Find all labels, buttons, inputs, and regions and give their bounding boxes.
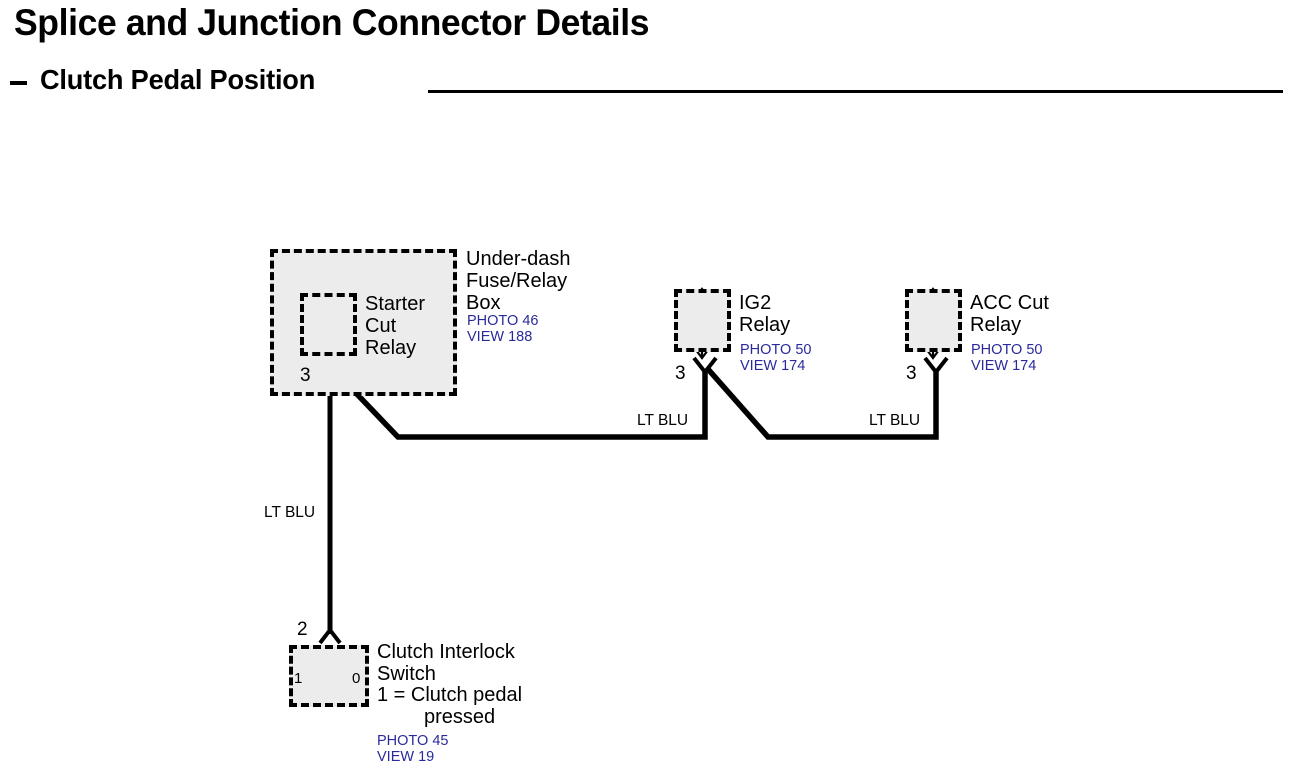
acc-cut-relay-box [905,289,962,352]
acc-cut-relay-photo-reference: PHOTO 50 [971,342,1042,358]
starter-cut-relay-label: Starter Cut Relay [365,293,425,359]
acc-cut-relay-view-reference: VIEW 174 [971,358,1036,374]
clutch-switch-photo-reference: PHOTO 45 [377,733,448,749]
clutch-switch-note-line-1: 1 = Clutch pedal [377,684,522,706]
starter-cut-relay-box [300,293,357,356]
clutch-switch-contact-1-number: 1 [294,671,302,686]
under-dash-fuse-relay-box [270,249,457,396]
starter-cut-relay-terminal-number: 3 [300,366,311,385]
ig2-relay-view-reference: VIEW 174 [740,358,805,374]
clutch-switch-contact-0-number: 0 [352,671,360,686]
wiring-diagram: Under-dash Fuse/Relay Box PHOTO 46 VIEW … [0,0,1294,775]
under-dash-fuse-relay-box-label: Under-dash Fuse/Relay Box [466,248,571,314]
ig2-relay-photo-reference: PHOTO 50 [740,342,811,358]
terminal-arrow-acc-cut-relay [925,358,947,372]
acc-cut-relay-terminal-number: 3 [906,364,917,383]
terminal-arrow-clutch-switch [320,630,340,643]
clutch-switch-view-reference: VIEW 19 [377,749,434,765]
under-dash-box-photo-reference: PHOTO 46 [467,313,538,329]
wire-layer [0,0,1294,775]
ig2-relay-label: IG2 Relay [739,292,790,336]
acc-cut-relay-label: ACC Cut Relay [970,292,1049,336]
clutch-switch-note-line-2: pressed [424,706,495,728]
clutch-switch-terminal-2-number: 2 [297,620,308,639]
ig2-relay-box [674,289,731,352]
ig2-relay-terminal-number: 3 [675,364,686,383]
under-dash-box-view-reference: VIEW 188 [467,329,532,345]
wire-label-ig2-to-acc: LT BLU [869,413,920,429]
wire-label-starter-to-switch: LT BLU [264,505,315,521]
terminal-arrow-ig2-relay [694,358,716,372]
wire-label-starter-to-ig2: LT BLU [637,413,688,429]
clutch-interlock-switch-label: Clutch Interlock Switch [377,641,515,685]
